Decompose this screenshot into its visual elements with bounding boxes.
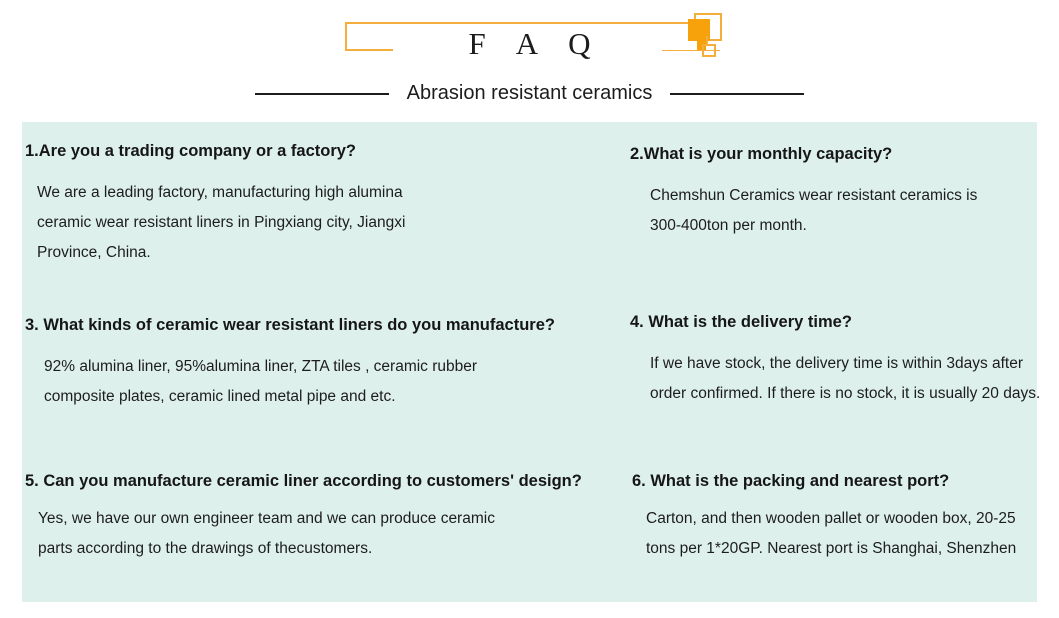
faq-question-5: 5. Can you manufacture ceramic liner acc… — [22, 472, 582, 492]
faq-answer-line: Province, China. — [37, 238, 582, 268]
faq-item-5: 5. Can you manufacture ceramic liner acc… — [22, 472, 582, 564]
faq-answer-line: ceramic wear resistant liners in Pingxia… — [37, 208, 582, 238]
faq-answer-2: Chemshun Ceramics wear resistant ceramic… — [602, 181, 1037, 241]
faq-answer-3: 92% alumina liner, 95%alumina liner, ZTA… — [22, 352, 582, 412]
subtitle-row: Abrasion resistant ceramics — [0, 82, 1059, 105]
faq-question-1: 1.Are you a trading company or a factory… — [22, 142, 582, 162]
page-title: F A Q — [0, 26, 1059, 62]
subtitle-rule-right — [670, 93, 804, 95]
faq-item-2: 2.What is your monthly capacity? Chemshu… — [602, 145, 1037, 241]
page-header: F A Q Abrasion resistant ceramics — [0, 0, 1059, 118]
faq-item-4: 4. What is the delivery time? If we have… — [602, 313, 1037, 409]
faq-answer-line: 300-400ton per month. — [650, 211, 1037, 241]
faq-column-right: 2.What is your monthly capacity? Chemshu… — [602, 122, 1037, 602]
faq-column-left: 1.Are you a trading company or a factory… — [22, 122, 582, 602]
faq-answer-line: 92% alumina liner, 95%alumina liner, ZTA… — [44, 352, 582, 382]
faq-answer-line: tons per 1*20GP. Nearest port is Shangha… — [646, 534, 1037, 564]
faq-item-1: 1.Are you a trading company or a factory… — [22, 142, 582, 268]
faq-item-6: 6. What is the packing and nearest port?… — [602, 472, 1037, 564]
faq-question-4: 4. What is the delivery time? — [602, 313, 1037, 333]
faq-question-6: 6. What is the packing and nearest port? — [602, 472, 1037, 492]
faq-answer-line: Yes, we have our own engineer team and w… — [38, 504, 582, 534]
faq-columns: 1.Are you a trading company or a factory… — [22, 122, 1037, 602]
header-orange-rule — [345, 22, 708, 24]
faq-answer-1: We are a leading factory, manufacturing … — [22, 178, 582, 268]
faq-question-3: 3. What kinds of ceramic wear resistant … — [22, 316, 582, 336]
faq-answer-line: composite plates, ceramic lined metal pi… — [44, 382, 582, 412]
faq-item-3: 3. What kinds of ceramic wear resistant … — [22, 316, 582, 412]
subtitle-rule-left — [255, 93, 389, 95]
faq-answer-line: order confirmed. If there is no stock, i… — [650, 379, 1037, 409]
faq-question-2: 2.What is your monthly capacity? — [602, 145, 1037, 165]
faq-answer-4: If we have stock, the delivery time is w… — [602, 349, 1037, 409]
faq-answer-6: Carton, and then wooden pallet or wooden… — [602, 504, 1037, 564]
faq-answer-line: parts according to the drawings of thecu… — [38, 534, 582, 564]
faq-answer-line: Carton, and then wooden pallet or wooden… — [646, 504, 1037, 534]
faq-answer-line: We are a leading factory, manufacturing … — [37, 178, 582, 208]
page-subtitle: Abrasion resistant ceramics — [407, 82, 653, 105]
faq-answer-line: If we have stock, the delivery time is w… — [650, 349, 1037, 379]
faq-answer-line: Chemshun Ceramics wear resistant ceramic… — [650, 181, 1037, 211]
faq-answer-5: Yes, we have our own engineer team and w… — [22, 504, 582, 564]
faq-panel: 1.Are you a trading company or a factory… — [22, 122, 1037, 602]
